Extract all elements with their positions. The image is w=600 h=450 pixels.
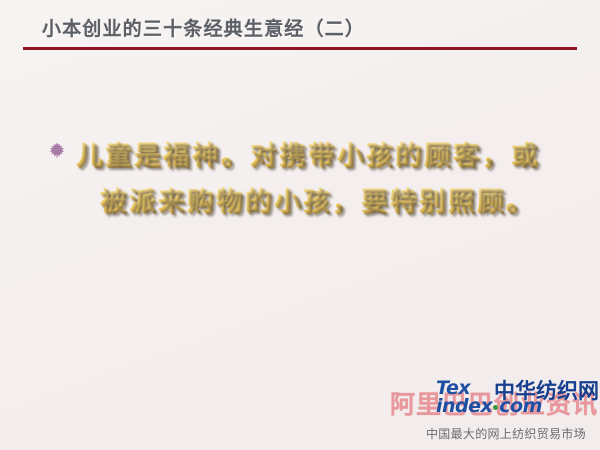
texindex-dot-icon xyxy=(493,405,498,410)
presentation-slide: 小本创业的三十条经典生意经（二） 儿童是福神。对携带小孩的顾客，或 儿童是福神。… xyxy=(0,0,600,450)
title-divider xyxy=(23,47,577,50)
watermark-tagline: 中国最大的网上纺织贸易市场 xyxy=(426,426,586,442)
body-line-1-wrap: 儿童是福神。对携带小孩的顾客，或 儿童是福神。对携带小孩的顾客，或 xyxy=(44,133,574,179)
body-line-2-wrap: 被派来购物的小孩，要特别照顾。 被派来购物的小孩，要特别照顾。 xyxy=(44,179,574,225)
bullet-list-item: 儿童是福神。对携带小孩的顾客，或 儿童是福神。对携带小孩的顾客，或 被派来购物的… xyxy=(44,133,574,225)
slide-body: 儿童是福神。对携带小孩的顾客，或 儿童是福神。对携带小孩的顾客，或 被派来购物的… xyxy=(44,133,574,225)
watermark-group: 阿里巴巴创业资讯 Tex indexcom 中华纺织网 中国最大的网上纺织贸易市… xyxy=(388,376,600,450)
body-line-2: 被派来购物的小孩，要特别照顾。 xyxy=(100,179,574,225)
zhonghua-textile-watermark: 中华纺织网 xyxy=(494,379,599,403)
body-line-1: 儿童是福神。对携带小孩的顾客，或 xyxy=(76,133,574,179)
slide-header: 小本创业的三十条经典生意经（二） xyxy=(0,0,600,56)
texindex-index-word: index xyxy=(436,395,492,417)
page-title: 小本创业的三十条经典生意经（二） xyxy=(42,17,365,41)
